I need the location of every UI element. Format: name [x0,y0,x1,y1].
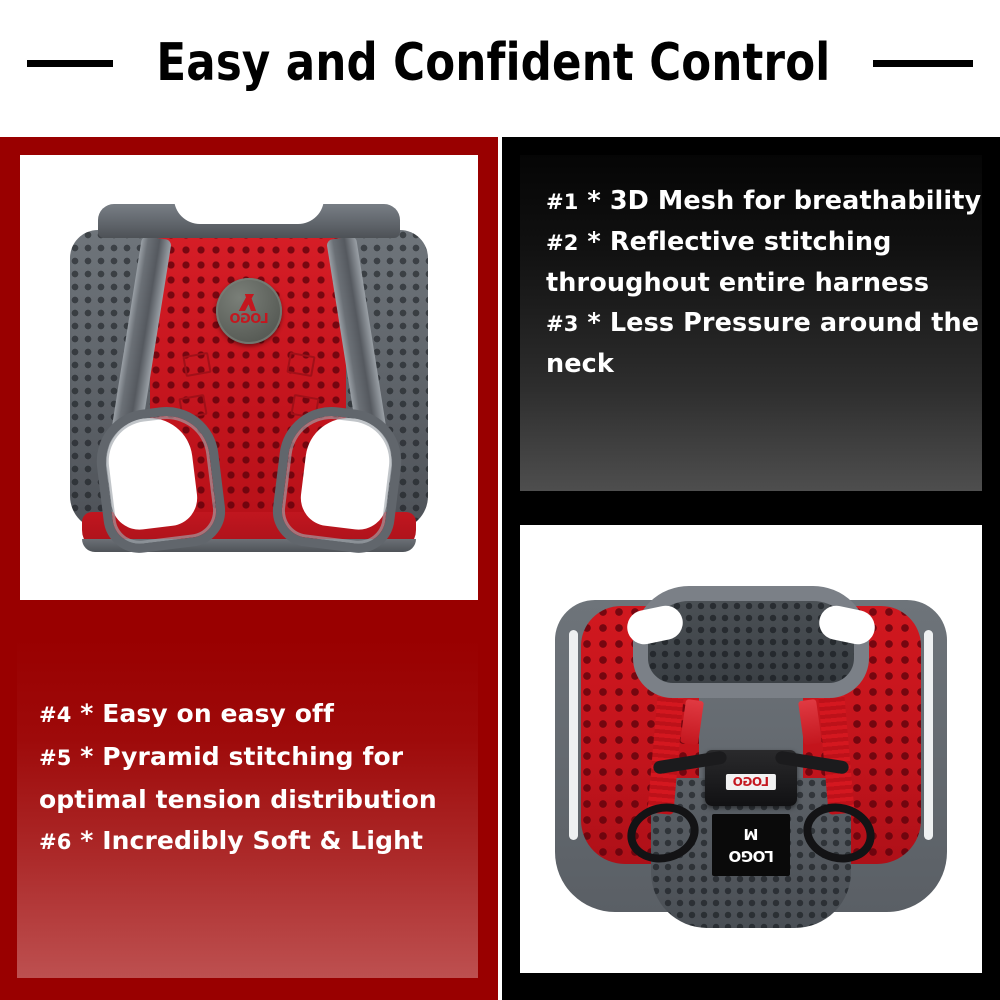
feature-number: #3 [546,312,578,336]
feature-text: neck [546,349,614,379]
features-bottom-plate: #4 * Easy on easy off #5 * Pyramid stitc… [17,637,478,978]
infographic-page: Easy and Confident Control [0,0,1000,1000]
feature-number: #1 [546,190,578,214]
feature-separator: * [587,186,600,216]
harness-front-illustration: LOGO [60,198,438,558]
panel-features-top: #1 * 3D Mesh for breathability #2 * Refl… [502,137,1000,505]
harness-logo-badge: LOGO [216,278,282,344]
feature-text: throughout entire harness [546,268,929,298]
feature-separator: * [80,742,93,771]
panel-harness-front: LOGO [0,137,498,620]
feature-text: Pyramid stitching for [102,742,403,771]
feature-separator: * [80,699,93,728]
harness-front-photo: LOGO [20,155,478,600]
feature-line-continuation: throughout entire harness [546,263,974,303]
feature-line: #5 * Pyramid stitching for [39,736,470,779]
size-tag-logo-text: LOGO [729,847,774,865]
pyramid-stitch-right-icon [286,351,315,376]
feature-text: optimal tension distribution [39,785,437,814]
feature-line-continuation: neck [546,344,974,384]
buckle-logo-text: LOGO [726,774,776,790]
feature-line: #1 * 3D Mesh for breathability [546,181,974,222]
feature-text: Incredibly Soft & Light [102,826,423,855]
feature-line: #3 * Less Pressure around the [546,303,974,344]
size-tag-value: M [744,825,759,843]
harness-neck-collar [633,586,869,698]
title-dash-right-icon [873,60,973,67]
feature-line: #4 * Easy on easy off [39,693,470,736]
feature-separator: * [587,308,600,338]
reflective-piping-left [569,630,578,840]
badge-logo-text: LOGO [230,312,269,327]
brand-mark-icon [236,294,262,311]
title-band: Easy and Confident Control [0,0,1000,137]
feature-text: 3D Mesh for breathability [610,186,981,216]
feature-number: #4 [39,703,71,727]
feature-line: #6 * Incredibly Soft & Light [39,820,470,863]
harness-buckle: LOGO [705,750,797,806]
feature-separator: * [587,227,600,257]
feature-number: #6 [39,830,71,854]
feature-line-continuation: optimal tension distribution [39,779,470,820]
harness-interior-illustration: LOGO M LOGO [555,582,947,934]
harness-body: LOGO [68,204,430,552]
title-row: Easy and Confident Control [0,18,1000,108]
feature-number: #2 [546,231,578,255]
feature-text: Less Pressure around the [610,308,979,338]
page-title: Easy and Confident Control [156,33,830,93]
pyramid-stitch-left-icon [182,351,211,376]
panel-harness-interior: LOGO M LOGO [502,505,1000,1000]
feature-separator: * [80,826,93,855]
harness-interior-photo: LOGO M LOGO [520,525,982,973]
features-top-plate: #1 * 3D Mesh for breathability #2 * Refl… [520,155,982,491]
feature-number: #5 [39,746,71,770]
title-dash-left-icon [27,60,113,67]
reflective-piping-right [924,630,933,840]
feature-text: Reflective stitching [610,227,892,257]
feature-line: #2 * Reflective stitching [546,222,974,263]
feature-text: Easy on easy off [102,699,334,728]
harness-neck-opening [174,198,324,224]
panel-features-bottom: #4 * Easy on easy off #5 * Pyramid stitc… [0,620,498,1000]
harness-size-tag: M LOGO [712,814,790,876]
